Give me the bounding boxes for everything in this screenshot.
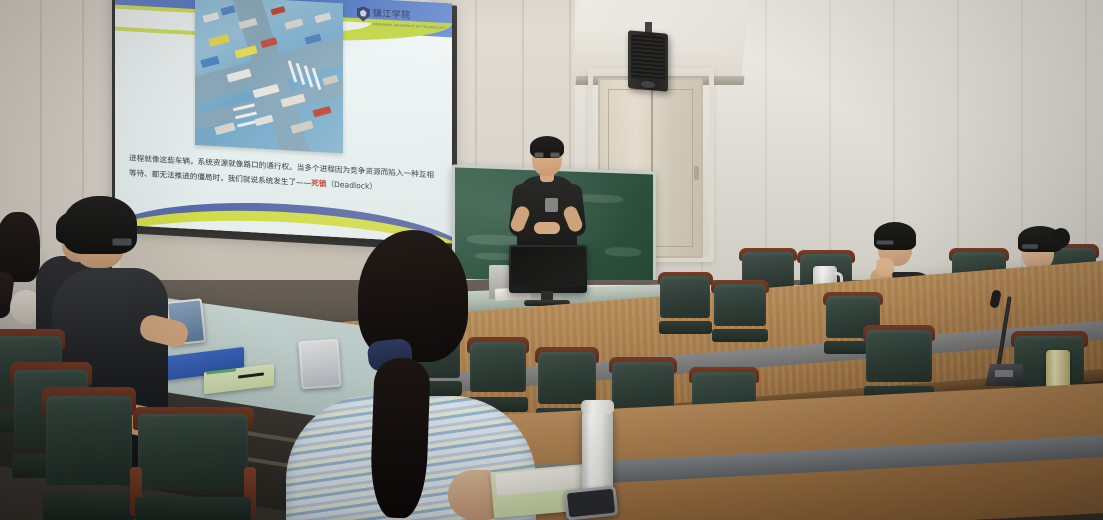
glasses-icon (112, 238, 132, 246)
chair[interactable] (714, 284, 766, 342)
slide-text-highlight: 死锁 (311, 178, 326, 188)
microphone-badge (995, 370, 1013, 377)
door-handle[interactable] (694, 166, 699, 180)
chair[interactable] (866, 330, 932, 402)
monitor-bezel (511, 247, 585, 287)
tablet[interactable] (298, 339, 341, 390)
chair[interactable] (660, 276, 710, 334)
presenter-hands (534, 222, 560, 234)
glasses-icon (1022, 244, 1038, 249)
chair[interactable] (46, 396, 132, 520)
projection-screen: 光谷 镇江学院 ZHENJIANG UNIVERSITY OF TECHNOLO… (115, 0, 452, 243)
glasses-icon (876, 240, 894, 245)
chair[interactable] (138, 414, 248, 520)
slide-traffic-photo (195, 0, 343, 153)
thermos-cap (581, 400, 614, 414)
seminar-room-photo: 光谷 镇江学院 ZHENJIANG UNIVERSITY OF TECHNOLO… (0, 0, 1103, 520)
glasses-icon (534, 152, 560, 158)
slide-text-line2-post: （Deadlock） (326, 179, 377, 191)
wall-speaker-icon (628, 30, 668, 91)
phone-screen (567, 489, 615, 518)
phone[interactable] (564, 485, 619, 520)
monitor (509, 245, 587, 293)
crest-shield-icon (357, 6, 370, 22)
presenter-shirt-logo (545, 198, 558, 212)
hair-bun (1052, 228, 1070, 248)
university-crest: 镇江学院 ZHENJIANG UNIVERSITY OF TECHNOLOGY (357, 2, 446, 30)
speaker-grill (631, 35, 665, 82)
crest-name: 镇江学院 (373, 8, 411, 20)
speaker-cone (641, 80, 655, 88)
